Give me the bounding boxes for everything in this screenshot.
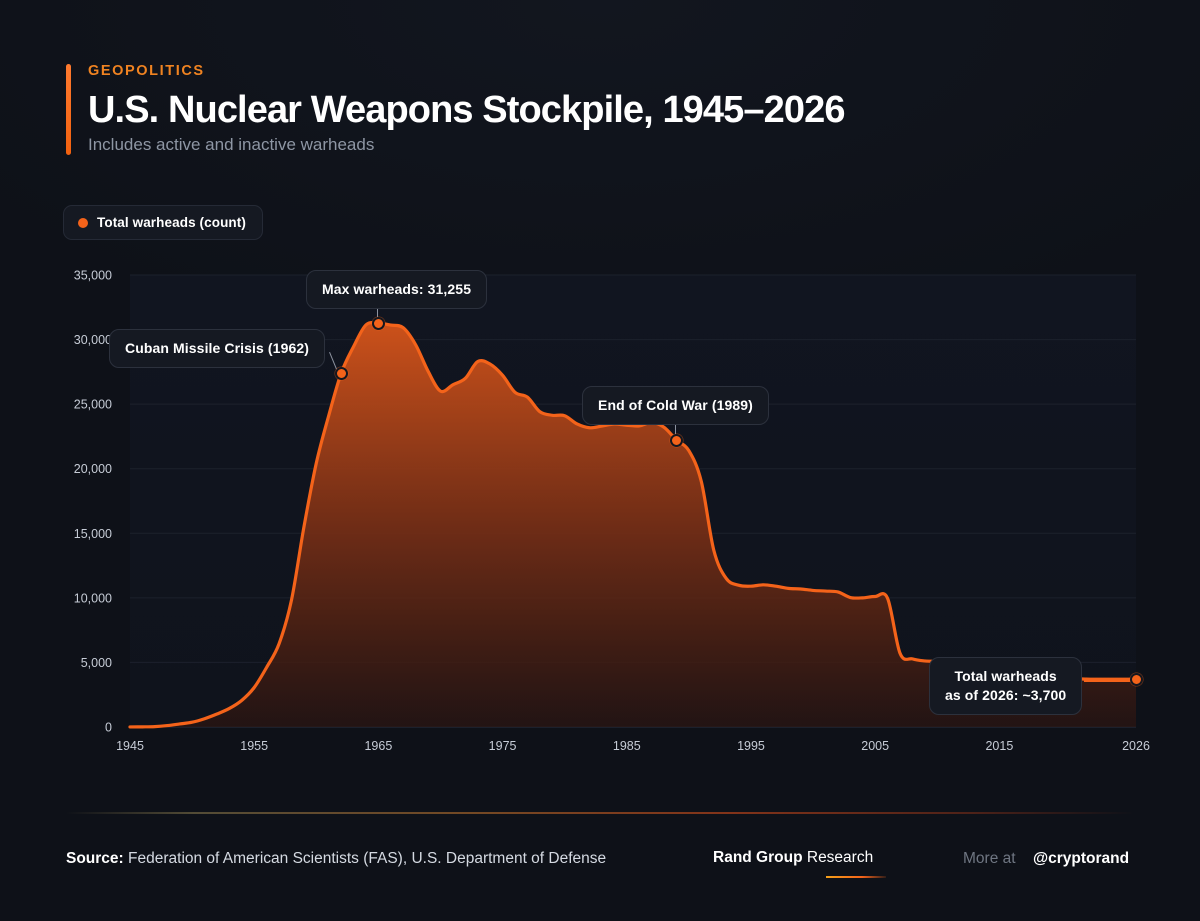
brand-underline	[826, 876, 886, 878]
svg-text:1975: 1975	[489, 739, 517, 753]
footer-divider	[66, 812, 1134, 814]
svg-text:15,000: 15,000	[74, 527, 112, 541]
page-title: U.S. Nuclear Weapons Stockpile, 1945–202…	[88, 90, 845, 130]
annotation-cuban-missile-crisis[interactable]: Cuban Missile Crisis (1962)	[109, 329, 325, 368]
annotation-latest-line2: as of 2026: ~3,700	[945, 686, 1066, 705]
svg-text:10,000: 10,000	[74, 591, 112, 605]
x-axis-ticks: 194519551965197519851995200520152026	[116, 739, 1150, 753]
data-point-cuban[interactable]	[335, 367, 348, 380]
annotation-max-warheads[interactable]: Max warheads: 31,255	[306, 270, 487, 309]
annotation-latest-line1: Total warheads	[945, 667, 1066, 686]
svg-text:1985: 1985	[613, 739, 641, 753]
svg-text:1945: 1945	[116, 739, 144, 753]
leader-line-latest	[1084, 679, 1131, 682]
source-label: Source:	[66, 850, 124, 867]
page-subtitle: Includes active and inactive warheads	[88, 135, 845, 155]
source-text: Federation of American Scientists (FAS),…	[124, 850, 606, 867]
category-eyebrow: GEOPOLITICS	[88, 64, 845, 79]
svg-text:0: 0	[105, 721, 112, 735]
svg-text:25,000: 25,000	[74, 398, 112, 412]
brand-wordmark: Rand Group Research	[713, 849, 873, 867]
annotation-latest-total[interactable]: Total warheads as of 2026: ~3,700	[929, 657, 1082, 715]
y-axis-ticks: 35,00030,00025,00020,00015,00010,0005,00…	[74, 269, 112, 735]
svg-text:1965: 1965	[364, 739, 392, 753]
svg-text:30,000: 30,000	[74, 333, 112, 347]
footer: Source: Federation of American Scientist…	[0, 840, 1200, 880]
data-point-coldwar[interactable]	[670, 434, 683, 447]
accent-bar	[66, 64, 71, 155]
data-point-max[interactable]	[372, 317, 385, 330]
data-point-latest[interactable]	[1130, 673, 1143, 686]
brand-name: Rand Group	[713, 849, 803, 866]
brand-suffix: Research	[803, 849, 874, 866]
annotation-end-of-cold-war[interactable]: End of Cold War (1989)	[582, 386, 769, 425]
header: GEOPOLITICS U.S. Nuclear Weapons Stockpi…	[66, 64, 845, 155]
infographic-page: GEOPOLITICS U.S. Nuclear Weapons Stockpi…	[0, 0, 1200, 921]
svg-text:2026: 2026	[1122, 739, 1150, 753]
social-handle[interactable]: @cryptorand	[1033, 850, 1129, 868]
chart-legend[interactable]: Total warheads (count)	[63, 205, 263, 240]
header-text: GEOPOLITICS U.S. Nuclear Weapons Stockpi…	[88, 64, 845, 155]
svg-text:1955: 1955	[240, 739, 268, 753]
legend-label: Total warheads (count)	[97, 215, 246, 230]
source-note: Source: Federation of American Scientist…	[66, 850, 606, 868]
legend-dot-icon	[78, 218, 88, 228]
svg-text:1995: 1995	[737, 739, 765, 753]
more-at-label: More at	[963, 850, 1016, 868]
svg-text:2005: 2005	[861, 739, 889, 753]
svg-text:20,000: 20,000	[74, 462, 112, 476]
svg-text:5,000: 5,000	[81, 656, 112, 670]
svg-text:2015: 2015	[985, 739, 1013, 753]
svg-text:35,000: 35,000	[74, 269, 112, 283]
